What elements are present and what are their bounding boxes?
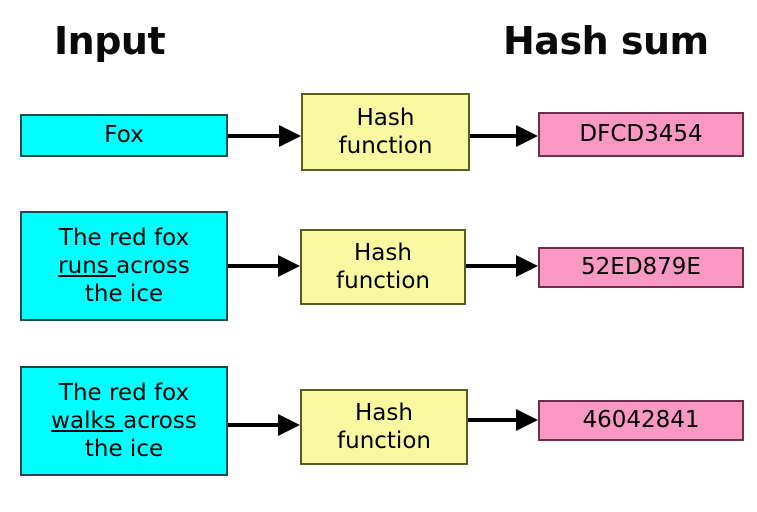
hash-function-line-1b: function: [339, 132, 433, 160]
page-title-input: Input: [54, 22, 165, 60]
hash-sum-box-1: DFCD3454: [538, 112, 744, 157]
input-text-3-suffix: across: [123, 408, 197, 434]
hash-function-box-2: Hash function: [300, 229, 466, 305]
hash-sum-box-3: 46042841: [538, 400, 744, 441]
input-text-2-line2: runs across: [58, 252, 190, 280]
input-text-2-suffix: across: [116, 253, 190, 279]
hash-function-line-2a: Hash: [336, 239, 430, 267]
input-text-2-line3: the ice: [85, 280, 163, 308]
hash-sum-text-1: DFCD3454: [579, 120, 702, 148]
hash-sum-text-2: 52ED879E: [581, 253, 701, 281]
input-text-1: Fox: [104, 121, 143, 149]
input-text-3-line1: The red fox: [59, 379, 189, 407]
hash-function-line-3b: function: [337, 427, 431, 455]
hash-function-label-2: Hash function: [336, 239, 430, 295]
hash-function-line-1a: Hash: [339, 104, 433, 132]
hash-function-label-3: Hash function: [337, 399, 431, 455]
input-text-3-line3: the ice: [85, 435, 163, 463]
input-box-2: The red fox runs across the ice: [20, 211, 228, 321]
hash-function-box-1: Hash function: [301, 93, 470, 171]
input-box-1: Fox: [20, 114, 228, 157]
hash-function-line-3a: Hash: [337, 399, 431, 427]
input-text-2-line1: The red fox: [59, 224, 189, 252]
hash-function-line-2b: function: [336, 267, 430, 295]
hash-function-box-3: Hash function: [300, 389, 468, 465]
hash-sum-box-2: 52ED879E: [538, 247, 744, 288]
input-text-2-underlined: runs: [58, 253, 116, 279]
page-title-hash-sum: Hash sum: [503, 22, 709, 60]
input-text-3-underlined: walks: [51, 408, 123, 434]
input-box-3: The red fox walks across the ice: [20, 366, 228, 476]
hash-function-label-1: Hash function: [339, 104, 433, 160]
input-text-3-line2: walks across: [51, 407, 197, 435]
hash-sum-text-3: 46042841: [582, 406, 699, 434]
